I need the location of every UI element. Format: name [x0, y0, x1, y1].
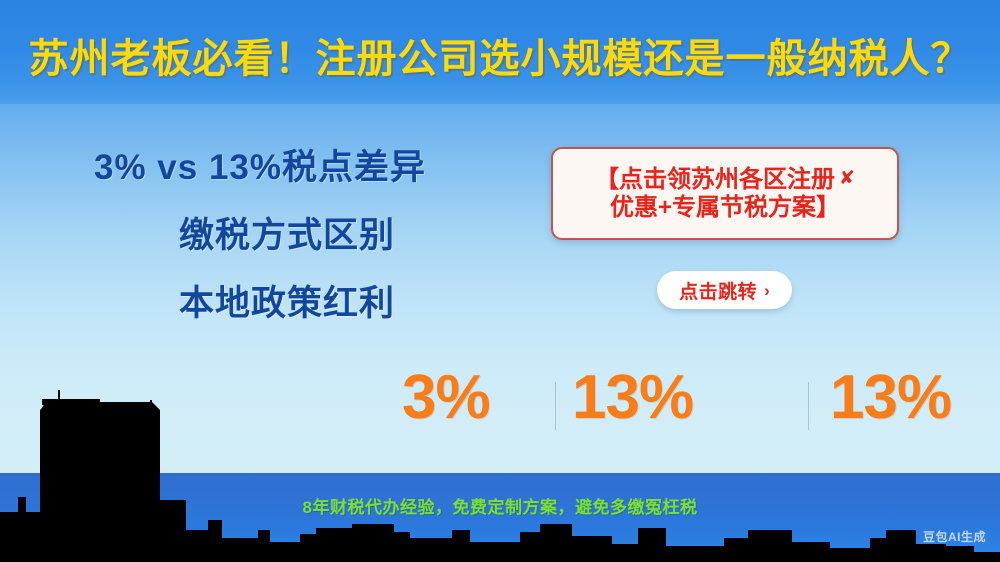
stat-value-0: 3% [402, 362, 490, 434]
stat-divider-0 [555, 382, 556, 430]
benefit-item-payment-method: 缴税方式区别 [72, 218, 502, 253]
ai-watermark: 豆包AI生成 [923, 528, 986, 545]
cross-mark-icon: ✘ [839, 168, 855, 190]
benefit-item-local-policy: 本地政策红利 [72, 286, 502, 321]
promo-card-line-1-text: 【点击领苏州各区注册 [595, 166, 835, 194]
footer-tagline: 8年财税代办经验，免费定制方案，避免多缴冤枉税 [0, 493, 1000, 518]
jump-button[interactable]: 点击跳转 › [657, 271, 792, 309]
promo-poster: 苏州老板必看！注册公司选小规模还是一般纳税人？ 3% vs 13%税点差异 缴税… [0, 0, 1000, 562]
page-title: 苏州老板必看！注册公司选小规模还是一般纳税人？ [0, 26, 1000, 84]
chevron-right-icon: › [764, 282, 770, 299]
stat-divider-1 [808, 382, 809, 430]
promo-card-line-1: 【点击领苏州各区注册 ✘ [595, 166, 855, 194]
tax-rate-stats: 3% 13% 13% [380, 362, 1000, 434]
jump-button-label: 点击跳转 [679, 277, 757, 304]
stat-value-1: 13% [572, 362, 693, 434]
stat-value-2: 13% [830, 362, 951, 434]
benefit-item-tax-rate-diff: 3% vs 13%税点差异 [94, 150, 502, 185]
benefit-list: 3% vs 13%税点差异 缴税方式区别 本地政策红利 [72, 150, 502, 321]
promo-card-line-2: 优惠+专属节税方案】 [610, 194, 840, 222]
promo-offer-card[interactable]: 【点击领苏州各区注册 ✘ 优惠+专属节税方案】 [551, 147, 899, 240]
